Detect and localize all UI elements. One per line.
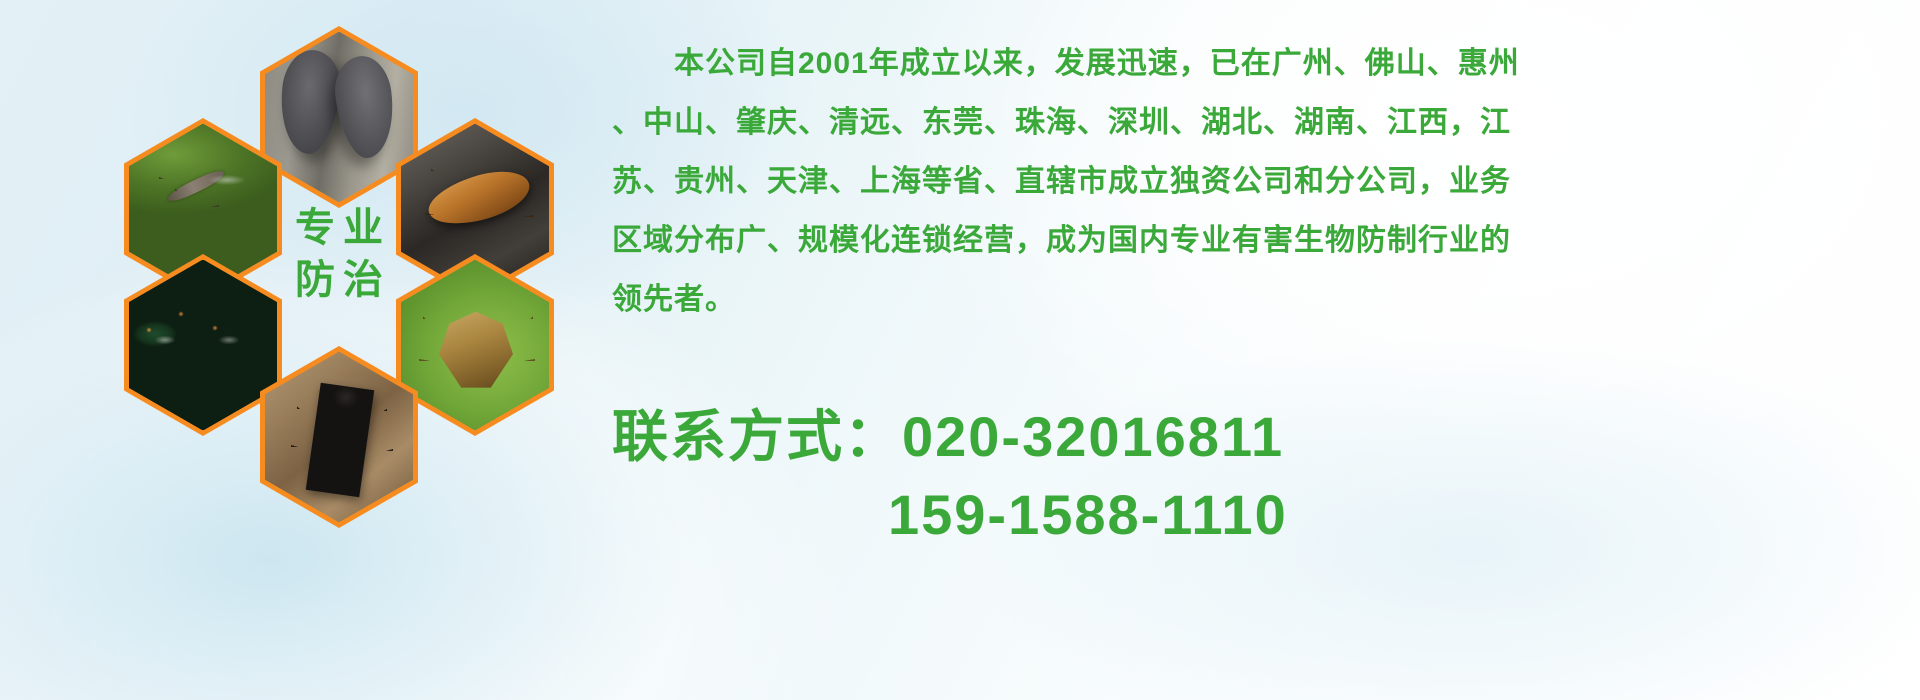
hex-photo-flies-cluster[interactable] [124,254,282,436]
hex-photo-stink-bug-on-leaf[interactable] [396,254,554,436]
slogan-line-2: 防治 [287,259,391,301]
intro-line-2: 、中山、肇庆、清远、东莞、珠海、深圳、湖北、湖南、江西，江 [612,93,1902,152]
hex-photo-inner [265,352,413,523]
intro-line-4: 区域分布广、规模化连锁经营，成为国内专业有害生物防制行业的 [612,211,1902,270]
hex-photo-ant-on-soil[interactable] [260,346,418,528]
stink-bug-image [401,260,549,431]
slogan-hex: 专业 防治 [260,163,418,345]
intro-line-5: 领先者。 [612,270,1902,329]
contact-line-secondary[interactable]: 159-1588-1110 [612,476,1912,554]
promo-banner: 专业 防治 本公司自2001年成立以来，发展迅速，已在广州、佛山、惠州 、中山、… [0,0,1920,700]
honeycomb-photo-collage: 专业 防治 [92,8,592,568]
intro-line-1: 本公司自2001年成立以来，发展迅速，已在广州、佛山、惠州 [612,34,1902,93]
hex-photo-inner [401,260,549,431]
contact-line-primary[interactable]: 联系方式：020-32016811 [612,398,1912,476]
intro-line-3: 苏、贵州、天津、上海等省、直辖市成立独资公司和分公司，业务 [612,152,1902,211]
flies-image [129,260,277,431]
company-intro-paragraph: 本公司自2001年成立以来，发展迅速，已在广州、佛山、惠州 、中山、肇庆、清远、… [612,34,1902,329]
hex-photo-inner [129,260,277,431]
slogan-line-1: 专业 [287,207,391,249]
ant-image [265,352,413,523]
contact-block: 联系方式：020-32016811 159-1588-1110 [612,398,1912,554]
